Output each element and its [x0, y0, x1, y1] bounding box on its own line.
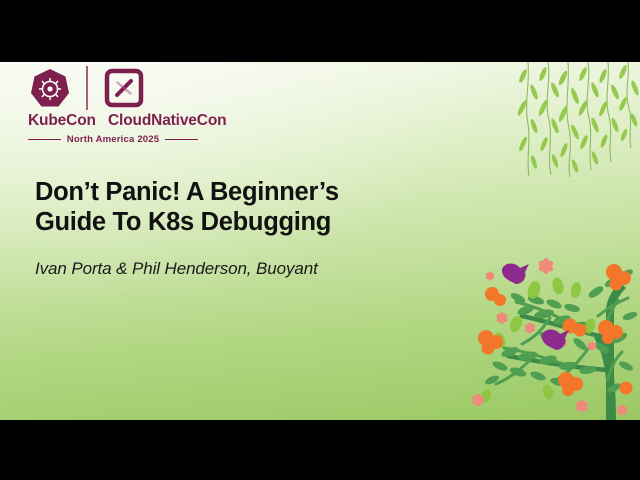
presentation-slide: KubeCon CloudNativeCon North America 202…	[0, 0, 640, 480]
wordmark-row: KubeCon CloudNativeCon	[28, 112, 226, 130]
headline-block: Don’t Panic! A Beginner’s Guide To K8s D…	[35, 177, 455, 280]
letterbox-top	[0, 0, 640, 62]
region-rule-right	[165, 139, 198, 141]
cloudnativecon-wordmark: CloudNativeCon	[108, 112, 226, 130]
region-rule-left	[28, 139, 61, 141]
kubecon-cloudnativecon-logo-lockup: KubeCon CloudNativeCon North America 202…	[28, 65, 226, 145]
cloudnativecon-logo	[104, 68, 144, 108]
region-row: North America 2025	[28, 134, 198, 145]
letterbox-bottom	[0, 420, 640, 480]
kubernetes-helm-logo	[28, 66, 72, 110]
logo-marks-row	[28, 65, 226, 111]
region-label: North America 2025	[61, 134, 165, 145]
blossom-tree-illustration	[430, 220, 640, 420]
logo-divider	[86, 66, 88, 110]
talk-title: Don’t Panic! A Beginner’s Guide To K8s D…	[35, 177, 455, 237]
speaker-names: Ivan Porta & Phil Henderson, Buoyant	[35, 258, 455, 280]
slide-canvas: KubeCon CloudNativeCon North America 202…	[0, 62, 640, 420]
kubecon-wordmark: KubeCon	[28, 112, 90, 130]
willow-branches-illustration	[510, 62, 640, 177]
